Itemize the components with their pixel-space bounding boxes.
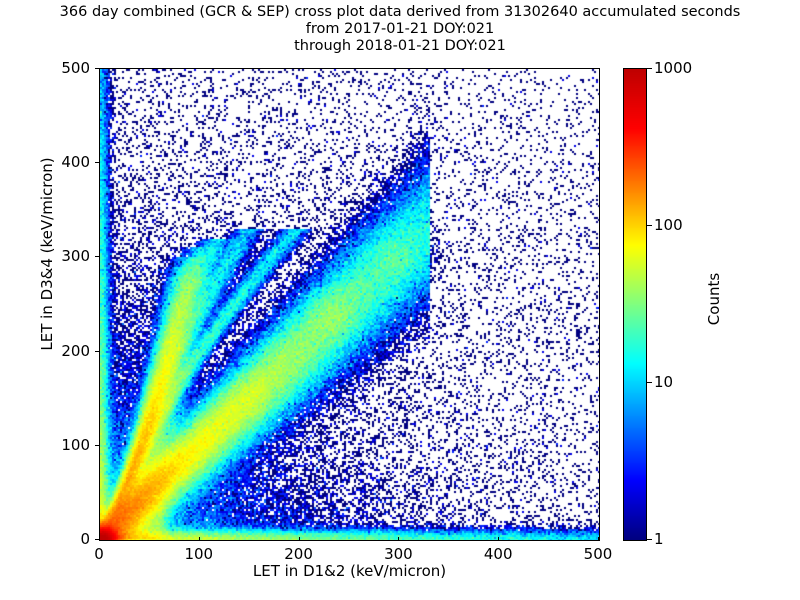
colorbar — [623, 68, 647, 541]
y-tick-label-500: 500 — [44, 60, 90, 76]
x-tick-label-200: 200 — [269, 545, 329, 563]
x-tick-label-300: 300 — [368, 545, 428, 563]
chart-title: 366 day combined (GCR & SEP) cross plot … — [0, 4, 800, 55]
colorbar-tick-label-1000: 1000 — [654, 60, 692, 76]
title-line-1: 366 day combined (GCR & SEP) cross plot … — [0, 4, 800, 21]
plot-area — [99, 68, 600, 541]
y-tick-label-200: 200 — [44, 343, 90, 359]
colorbar-gradient — [624, 69, 646, 540]
y-tick-100 — [95, 445, 99, 446]
y-tick-500 — [95, 68, 99, 69]
x-tick-0 — [99, 537, 100, 541]
y-tick-200 — [95, 351, 99, 352]
x-axis-label: LET in D1&2 (keV/micron) — [99, 562, 600, 580]
x-tick-label-500: 500 — [568, 545, 628, 563]
density-heatmap — [100, 69, 599, 540]
title-line-2: from 2017-01-21 DOY:021 — [0, 21, 800, 38]
x-tick-label-0: 0 — [69, 545, 129, 563]
x-tick-500 — [598, 537, 599, 541]
colorbar-label: Counts — [705, 229, 723, 369]
figure-canvas: 366 day combined (GCR & SEP) cross plot … — [0, 0, 800, 600]
y-tick-400 — [95, 162, 99, 163]
y-tick-label-400: 400 — [44, 154, 90, 170]
colorbar-tick-1 — [647, 539, 652, 540]
y-tick-label-300: 300 — [44, 248, 90, 264]
y-tick-300 — [95, 256, 99, 257]
x-tick-300 — [398, 537, 399, 541]
y-tick-label-0: 0 — [44, 531, 90, 547]
y-tick-label-100: 100 — [44, 437, 90, 453]
colorbar-tick-label-10: 10 — [654, 374, 673, 390]
colorbar-tick-label-1: 1 — [654, 531, 664, 547]
colorbar-tick-label-100: 100 — [654, 217, 683, 233]
x-tick-200 — [299, 537, 300, 541]
x-tick-label-400: 400 — [468, 545, 528, 563]
x-tick-label-100: 100 — [169, 545, 229, 563]
colorbar-tick-1000 — [647, 68, 652, 69]
x-tick-400 — [498, 537, 499, 541]
colorbar-tick-10 — [647, 382, 652, 383]
title-line-3: through 2018-01-21 DOY:021 — [0, 38, 800, 55]
y-tick-0 — [95, 539, 99, 540]
x-tick-100 — [199, 537, 200, 541]
colorbar-tick-100 — [647, 225, 652, 226]
